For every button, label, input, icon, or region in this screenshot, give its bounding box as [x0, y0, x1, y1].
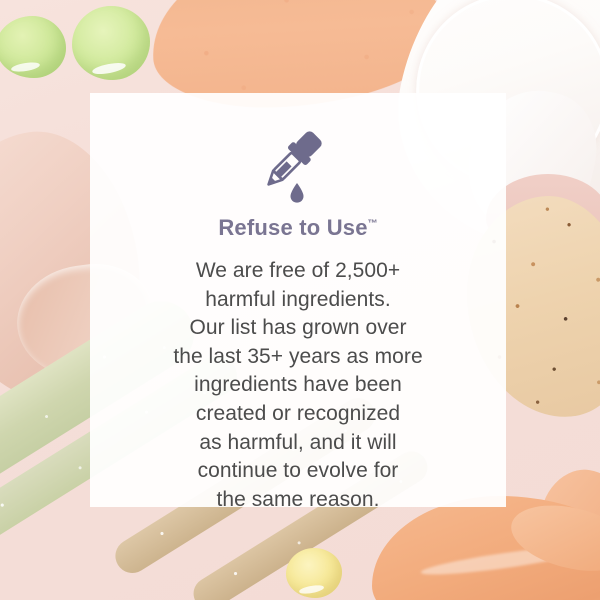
- green-gel-drop-left-icon: [0, 16, 66, 78]
- body-line: Our list has grown over: [173, 314, 422, 343]
- dropper-pipette-icon: [253, 121, 343, 207]
- body-line: We are free of 2,500+: [173, 257, 422, 286]
- body-line: created or recognized: [173, 400, 422, 429]
- claim-body-copy: We are free of 2,500+ harmful ingredient…: [173, 257, 422, 514]
- body-line: continue to evolve for: [173, 457, 422, 486]
- page-title: Refuse to Use™: [218, 217, 377, 239]
- trademark-symbol: ™: [368, 219, 378, 230]
- green-gel-drop-right-icon: [72, 6, 150, 80]
- claim-card: Refuse to Use™ We are free of 2,500+ har…: [90, 93, 506, 507]
- body-line: ingredients have been: [173, 371, 422, 400]
- body-line: as harmful, and it will: [173, 429, 422, 458]
- body-line: the same reason.: [173, 486, 422, 515]
- body-line: the last 35+ years as more: [173, 343, 422, 372]
- body-line: harmful ingredients.: [173, 286, 422, 315]
- yellow-oil-droplet-icon: [286, 548, 342, 598]
- title-text: Refuse to Use: [218, 215, 367, 240]
- product-claim-graphic: Refuse to Use™ We are free of 2,500+ har…: [0, 0, 600, 600]
